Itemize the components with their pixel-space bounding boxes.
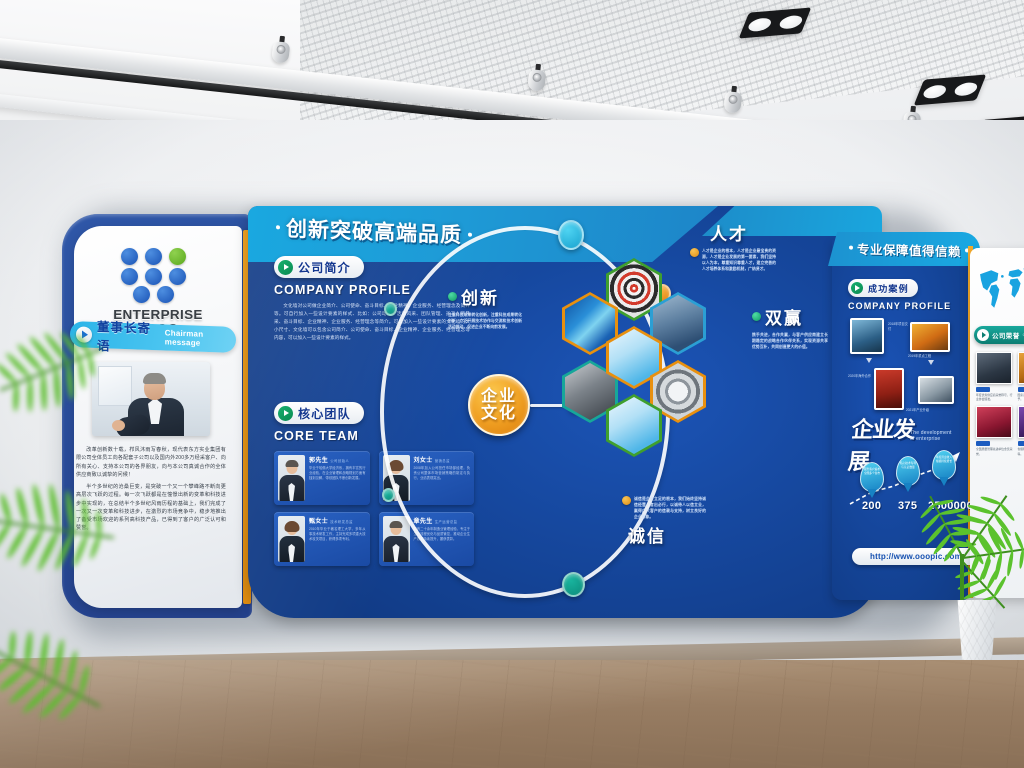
decorative-dot-icon (276, 225, 280, 229)
world-map-icon (976, 260, 1024, 318)
honor-grid: 年度优秀供应商荣誉称号，行业协会颁发。 国家高新技术企业认定证书授予。 全国质量… (976, 352, 1024, 456)
honor-photo (976, 406, 1012, 438)
honor-item[interactable]: 省级科技创新示范企业称号获得。 (1018, 406, 1024, 455)
play-icon (278, 406, 293, 421)
member-role: 公司创始人 (330, 459, 349, 463)
case-photo[interactable] (874, 368, 904, 410)
value-integrity-title: 诚信 (628, 522, 706, 547)
case-caption: 2020年海外合作 (848, 374, 872, 379)
honor-text: 国家高新技术企业认定证书授予。 (1018, 393, 1024, 401)
bullet-icon (622, 496, 631, 505)
culture-center-line2: 文化 (481, 405, 517, 422)
value-innovation-desc: 注重科技成果转化创新，注重科技成果转化创新，广泛开展技术协作与交流和技术创新活动… (448, 312, 522, 330)
plant-pot (955, 600, 999, 660)
foreground-plant-left (0, 320, 190, 768)
bullet-icon (448, 292, 457, 301)
milestone-pin[interactable]: 年度营业收入规模持续增长 (932, 450, 956, 480)
decorative-dot-icon (849, 246, 853, 250)
profile-title-cn: 公司简介 (298, 259, 351, 276)
honor-title-cn: 公司荣誉 (992, 330, 1020, 340)
case-photo[interactable] (850, 318, 884, 354)
culture-center-badge[interactable]: 企业 文化 (468, 374, 530, 436)
connector-arrow-icon (866, 358, 872, 363)
play-icon (851, 282, 863, 294)
honor-item[interactable]: 国家高新技术企业认定证书授予。 (1018, 352, 1024, 401)
case-caption: 2018年项目交付 (888, 322, 908, 332)
member-desc: 毕业于哈佛大学经济系，拥有丰富的行业经验，在企业管理和战略规划方面有独到见解，带… (309, 466, 366, 481)
logo-dots-icon (121, 248, 195, 304)
value-integrity: 诚信是企业立足的根本，我们始终坚持诚信经营，言出必行，以诚待人以信立业，赢得广大… (622, 496, 706, 547)
team-title-cn: 核心团队 (298, 405, 351, 422)
connector-arrow-icon (928, 360, 934, 365)
team-member-card[interactable]: 郭先生公司创始人 毕业于哈佛大学经济系，拥有丰富的行业经验，在企业管理和战略规划… (274, 451, 370, 505)
honor-text: 全国质量管理先进单位金奖荣誉。 (976, 447, 1013, 455)
cases-title-en: COMPANY PROFILE (848, 301, 962, 311)
orbit-node-teal-bottom[interactable] (562, 572, 585, 597)
member-name: 甄女士技术研发总监 (309, 516, 366, 525)
honor-title-pill[interactable]: 公司荣誉 Company honor (974, 326, 1024, 344)
play-icon (278, 260, 293, 275)
play-icon (977, 329, 989, 341)
honor-photo (1018, 406, 1024, 438)
honor-tag (976, 387, 990, 392)
right-header-title: 专业保障值得信赖 (844, 234, 974, 263)
honor-photo (1018, 352, 1024, 384)
value-innovation-title: 创新 (461, 284, 499, 309)
honor-item[interactable]: 年度优秀供应商荣誉称号，行业协会颁发。 (976, 352, 1013, 401)
honor-tag (1018, 387, 1024, 392)
member-role: 技术研发总监 (330, 520, 353, 524)
case-caption: 2019年重点工程 (908, 354, 934, 359)
case-photo[interactable] (910, 322, 950, 352)
culture-hexagon-cluster (554, 258, 704, 478)
orbit-node-teal-left[interactable] (384, 302, 397, 316)
honor-tag (1018, 441, 1024, 446)
value-winwin-desc: 携手共进，合作共赢，与客户供应商建立长期稳定的战略合作伙伴关系，实现资源共享优势… (752, 332, 828, 350)
culture-center-line1: 企业 (481, 388, 517, 405)
cases-title-cn: 成功案例 (868, 282, 909, 295)
milestone-pin-text: 年度营业收入规模持续增长 (935, 453, 953, 477)
right-header-title-text: 专业保障值得信赖 (857, 238, 961, 260)
value-winwin-title: 双赢 (765, 304, 803, 329)
bullet-icon (752, 312, 761, 321)
value-talent: 人才 人才是企业的根本，人才是企业最宝贵的资源，人才是企业发展的第一要素，我们坚… (690, 220, 776, 272)
bullet-icon (690, 248, 699, 257)
honor-photo (976, 352, 1012, 384)
member-name: 郭先生公司创始人 (309, 455, 366, 464)
milestone-pin[interactable]: 核心技术专利与认证数量 (896, 456, 920, 486)
milestone-pin[interactable]: 服务客户遍布全国多个省市 (860, 462, 884, 492)
header-title-text: 创新突破高端品质 (286, 213, 462, 250)
milestone-value: 200 (862, 500, 881, 512)
case-photo[interactable] (918, 376, 954, 404)
office-scene: ENTERPRISE LOGO 董事长寄语 Chairman message 改… (0, 0, 1024, 768)
member-photo (383, 516, 410, 562)
honor-text: 年度优秀供应商荣誉称号，行业协会颁发。 (976, 393, 1013, 401)
value-talent-desc: 人才是企业的根本，人才是企业最宝贵的资源，人才是企业发展的第一要素，我们坚持以人… (702, 248, 776, 272)
member-photo (278, 516, 305, 562)
track-spotlight (723, 85, 743, 115)
member-desc: 2010年毕业于著名理工大学，多年从事技术研发工作，主持完成多项重大技术攻关项目… (309, 527, 366, 542)
track-spotlight (527, 63, 547, 93)
honor-text: 省级科技创新示范企业称号获得。 (1018, 447, 1024, 455)
track-spotlight (271, 35, 291, 65)
milestone-pin-text: 服务客户遍布全国多个省市 (863, 465, 881, 489)
development-title-en: The development of enterprise (910, 430, 954, 442)
honor-tag (976, 441, 990, 446)
cases-title-pill[interactable]: 成功案例 (848, 279, 918, 297)
orbit-node-teal-lower-left[interactable] (382, 488, 395, 502)
value-talent-title: 人才 (710, 220, 776, 245)
team-title-pill[interactable]: 核心团队 (274, 402, 364, 424)
profile-title-pill[interactable]: 公司简介 (274, 256, 364, 278)
value-integrity-desc: 诚信是企业立足的根本，我们始终坚持诚信经营，言出必行，以诚待人以信立业，赢得广大… (634, 496, 706, 520)
decorative-dot-icon (468, 233, 472, 237)
team-member-card[interactable]: 甄女士技术研发总监 2010年毕业于著名理工大学，多年从事技术研发工作，主持完成… (274, 512, 370, 566)
value-innovation: 创新 注重科技成果转化创新，注重科技成果转化创新，广泛开展技术协作与交流和技术创… (448, 284, 522, 330)
honor-item[interactable]: 全国质量管理先进单位金奖荣誉。 (976, 406, 1013, 455)
culture-wall-board: ENTERPRISE LOGO 董事长寄语 Chairman message 改… (62, 196, 954, 626)
member-photo (278, 455, 305, 501)
orbit-node-cyan-top[interactable] (558, 220, 584, 250)
milestone-pin-text: 核心技术专利与认证数量 (899, 459, 917, 483)
value-winwin: 双赢 携手共进，合作共赢，与客户供应商建立长期稳定的战略合作伙伴关系，实现资源共… (752, 304, 828, 350)
